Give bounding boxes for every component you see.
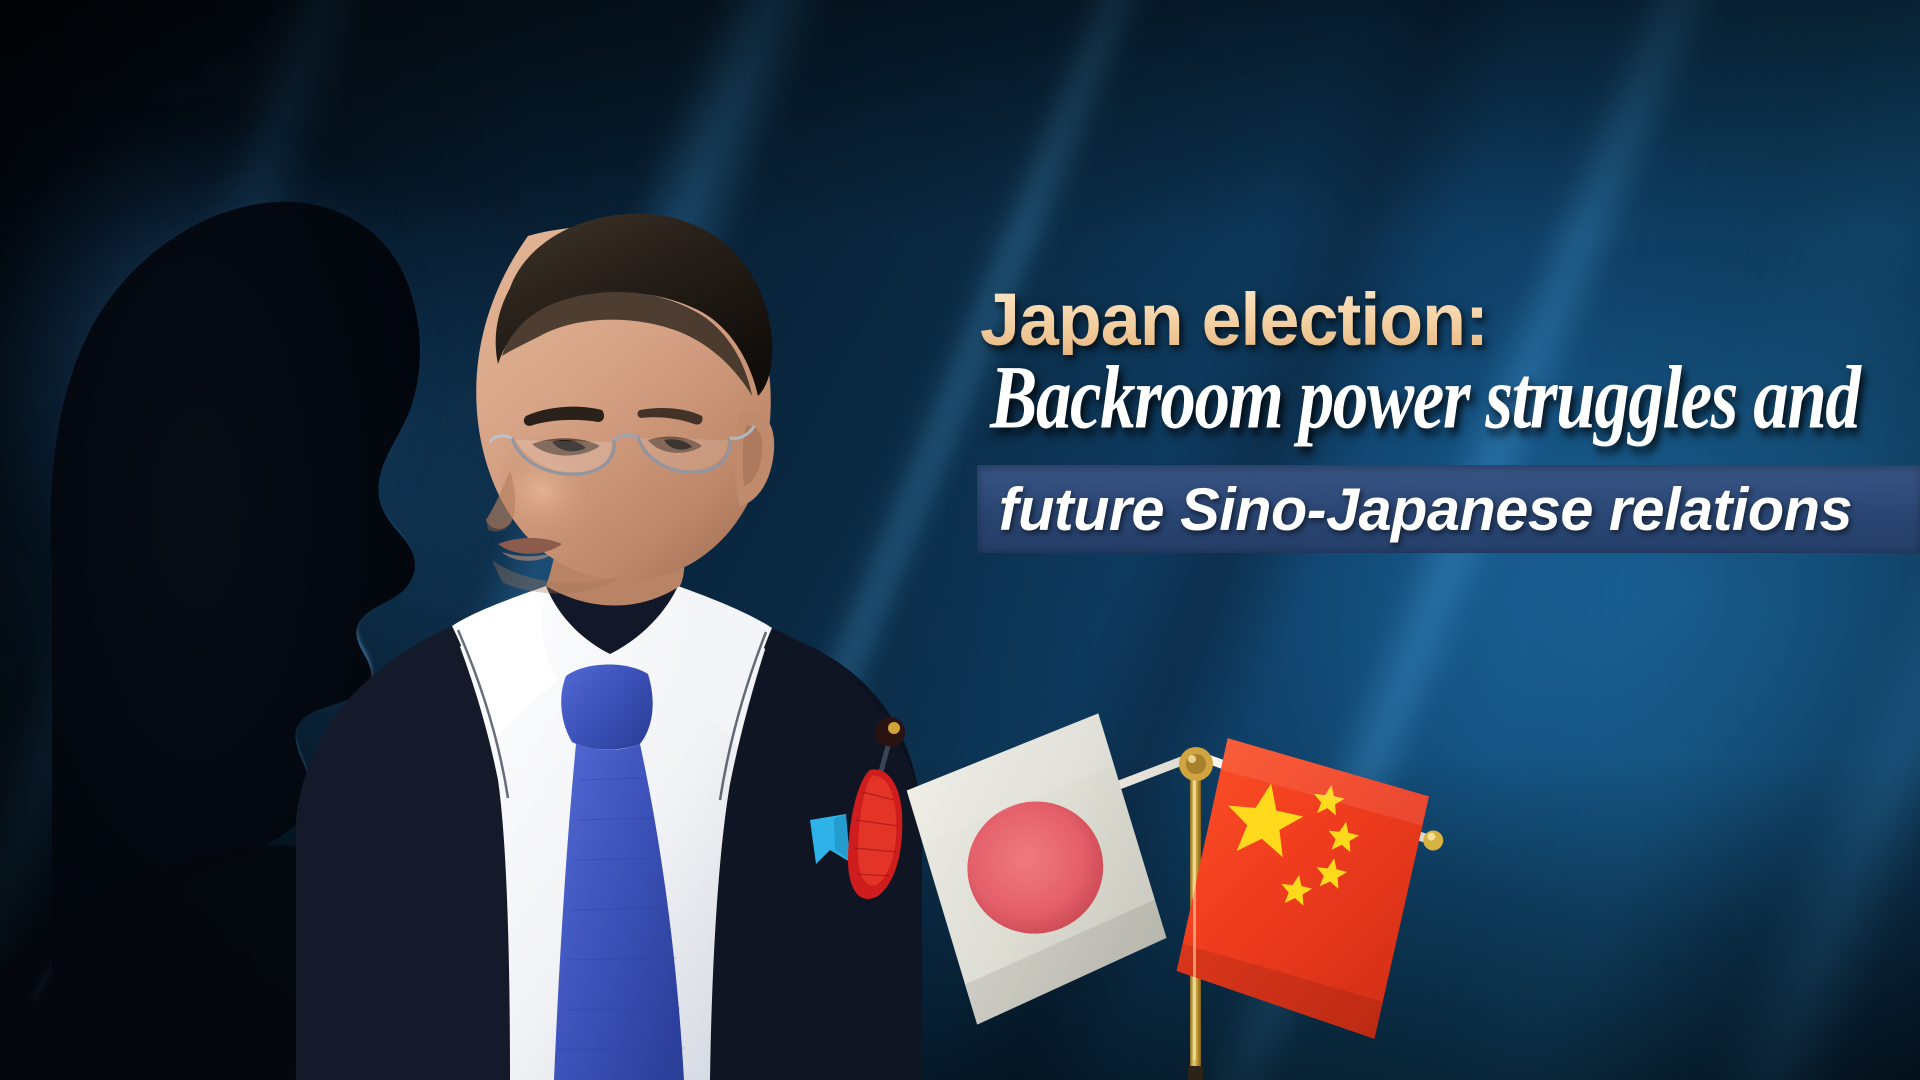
portrait-illustration xyxy=(210,120,970,1080)
pole-joint xyxy=(1179,747,1213,781)
headline-line-2: Backroom power struggles and xyxy=(990,353,1883,443)
headline-line-3: future Sino-Japanese relations xyxy=(977,475,1852,544)
headline-banner: future Sino-Japanese relations xyxy=(977,465,1920,553)
flags-illustration xyxy=(900,630,1520,1080)
graphic-canvas: Japan election: Backroom power struggles… xyxy=(0,0,1920,1080)
headline-block: Japan election: Backroom power struggles… xyxy=(980,285,1920,553)
crossed-flags xyxy=(900,630,1520,1080)
headline-line-1: Japan election: xyxy=(980,285,1892,355)
portrait-figure xyxy=(210,120,970,1080)
